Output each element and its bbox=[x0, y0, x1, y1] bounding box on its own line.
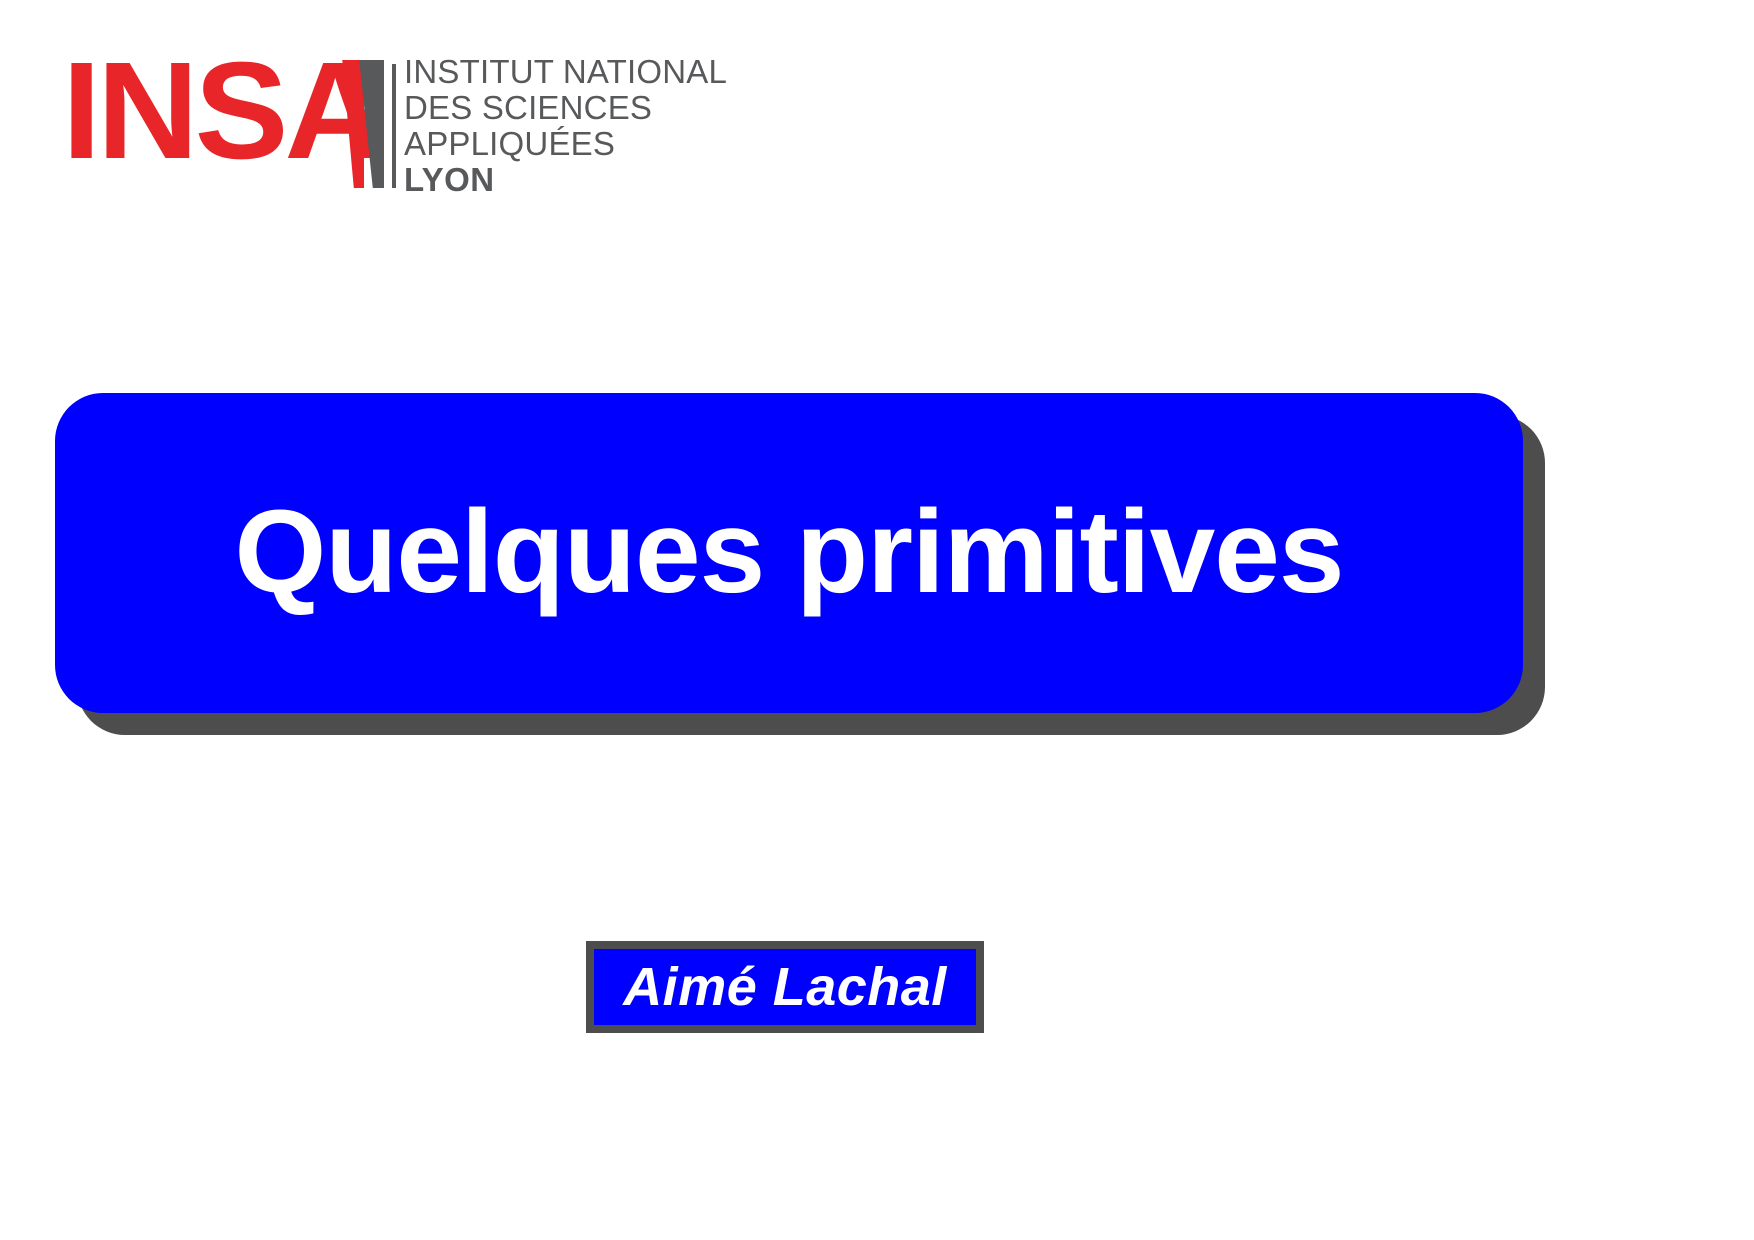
insa-wordmark-text: INSA bbox=[62, 42, 382, 180]
slide-title: Quelques primitives bbox=[235, 491, 1344, 615]
insa-subtitle-line-3: APPLIQUÉES bbox=[404, 126, 727, 162]
slide-canvas: { "slide": { "background_color": "#FFFFF… bbox=[0, 0, 1754, 1240]
insa-subtitle-line-1: INSTITUT NATIONAL bbox=[404, 54, 727, 90]
insa-subtitle-block: INSTITUT NATIONAL DES SCIENCES APPLIQUÉE… bbox=[404, 54, 727, 198]
insa-subtitle-line-4: LYON bbox=[404, 162, 727, 198]
insa-wordmark: INSA INSTITUT NATIONAL DES SCIENCES APPL… bbox=[62, 48, 362, 188]
author-box: Aimé Lachal bbox=[586, 941, 984, 1033]
insa-lyon-logo: INSA INSTITUT NATIONAL DES SCIENCES APPL… bbox=[62, 48, 362, 188]
insa-divider-bar bbox=[392, 64, 396, 188]
title-box-group: Quelques primitives bbox=[55, 393, 1523, 713]
author-name: Aimé Lachal bbox=[623, 960, 947, 1014]
title-box: Quelques primitives bbox=[55, 393, 1523, 713]
author-box-group: Aimé Lachal bbox=[586, 941, 984, 1033]
insa-subtitle-line-2: DES SCIENCES bbox=[404, 90, 727, 126]
